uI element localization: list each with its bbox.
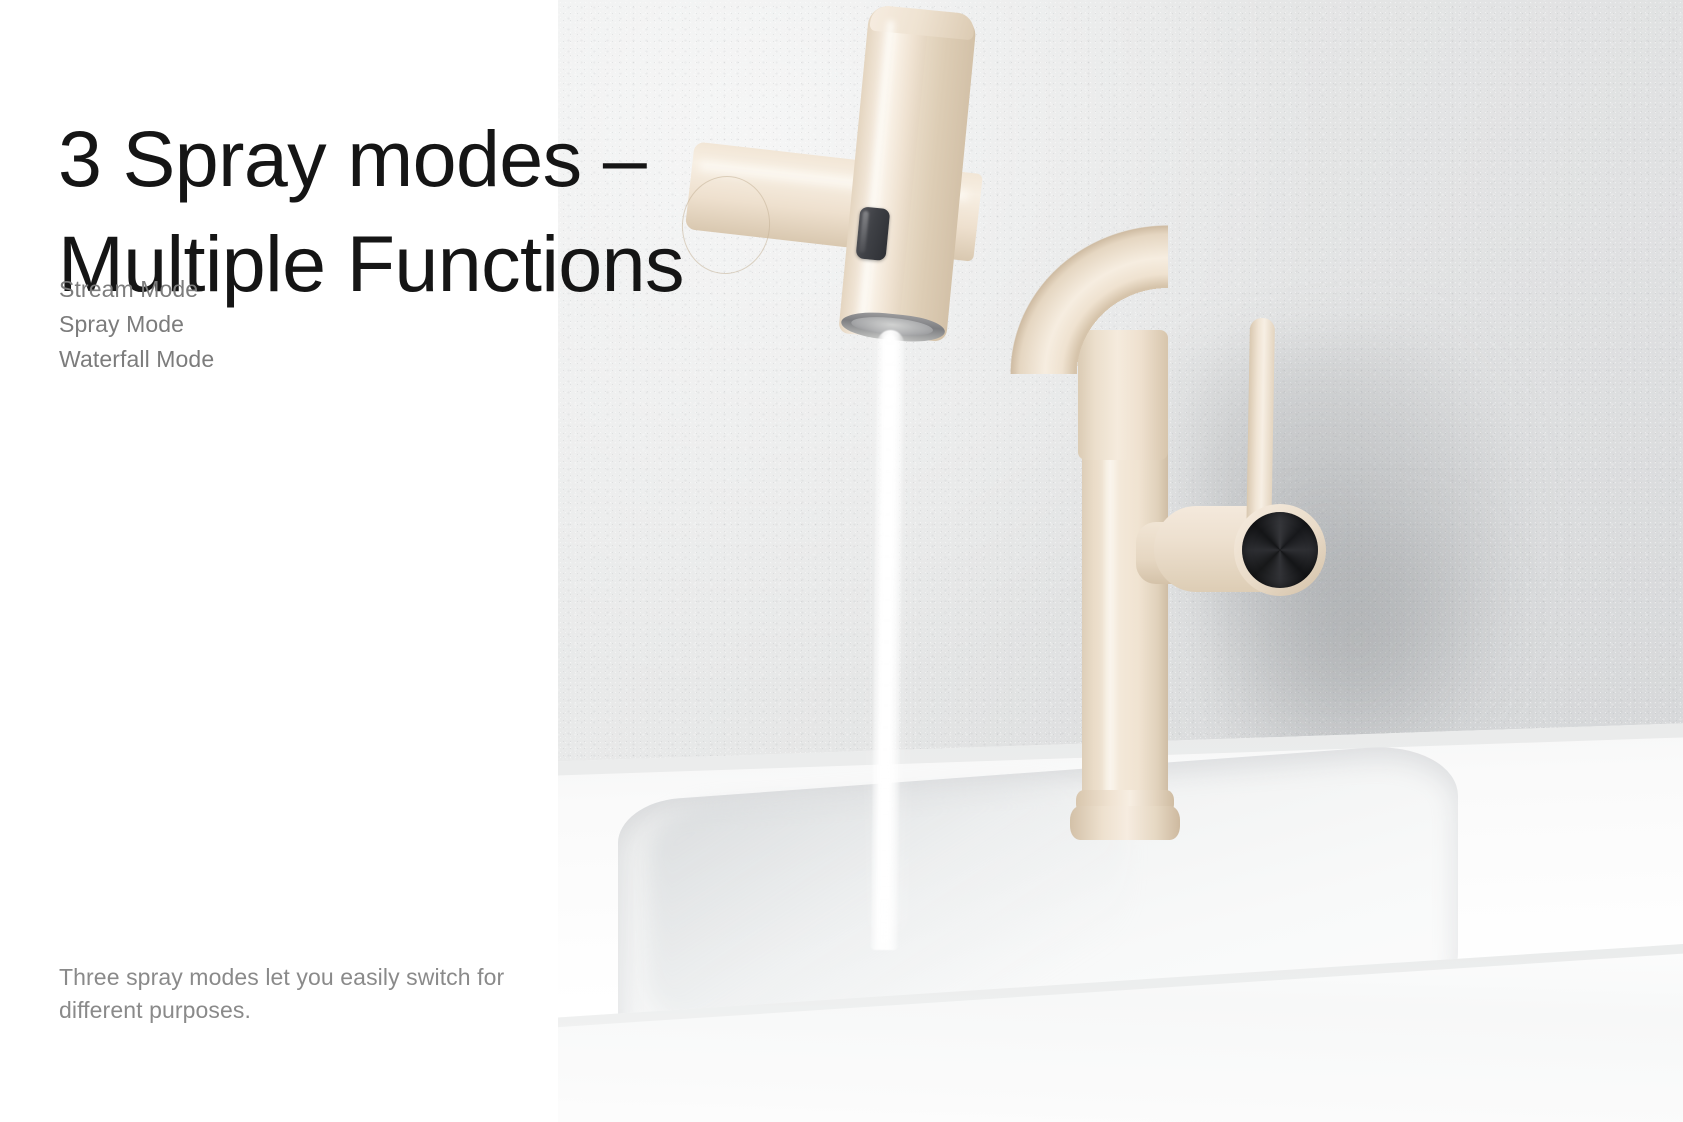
product-feature-slide: 3 Spray modes – Multiple Functions Strea… bbox=[0, 0, 1683, 1122]
faucet-arm-elbow bbox=[956, 174, 1168, 374]
faucet-body-column bbox=[1082, 430, 1168, 825]
faucet-base-collar bbox=[1070, 806, 1180, 840]
spray-mode-list: Stream Mode Spray Mode Waterfall Mode bbox=[59, 272, 214, 377]
handle-end-cap bbox=[1242, 512, 1318, 588]
list-item: Waterfall Mode bbox=[59, 342, 214, 377]
list-item: Stream Mode bbox=[59, 272, 214, 307]
caption-text: Three spray modes let you easily switch … bbox=[59, 961, 509, 1027]
faucet-body-highlight bbox=[1102, 430, 1118, 825]
list-item: Spray Mode bbox=[59, 307, 214, 342]
